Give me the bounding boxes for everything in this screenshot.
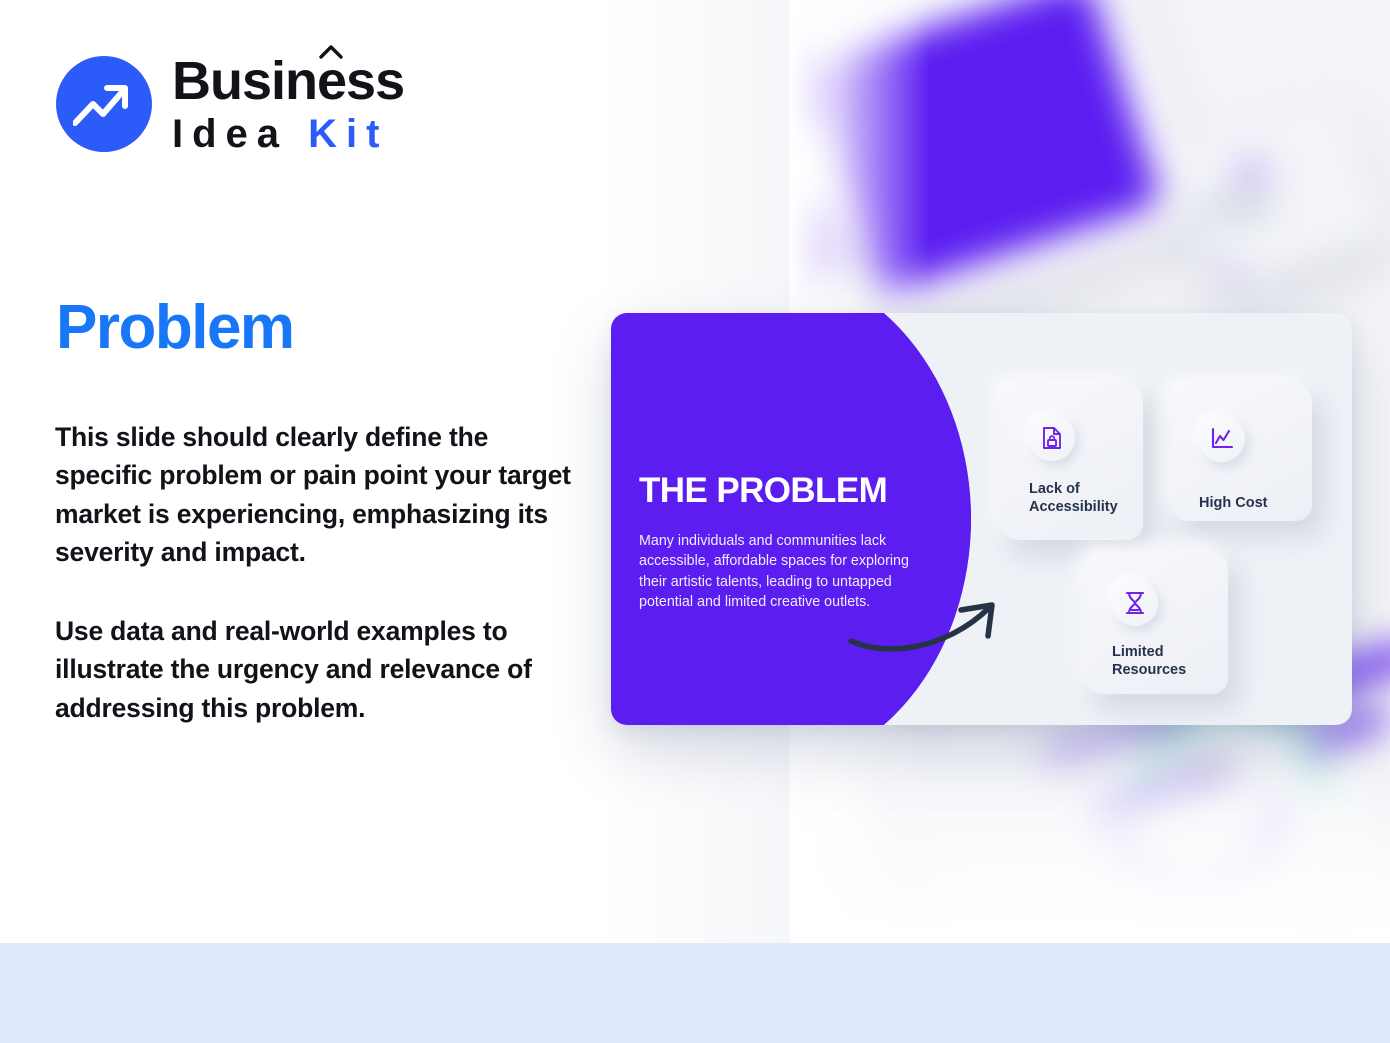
bg-mockup-card	[1171, 96, 1389, 294]
circumflex-accent-icon	[318, 44, 344, 60]
feature-card-label: Limited Resources	[1112, 643, 1222, 680]
document-lock-icon	[1029, 415, 1075, 461]
bg-decor-dot	[1222, 264, 1238, 280]
brand-name-line-1: Business	[172, 54, 404, 108]
feature-card-label: High Cost	[1199, 494, 1309, 512]
slide-text-block: THE PROBLEM Many individuals and communi…	[639, 473, 939, 612]
footer-accent-bar	[0, 943, 1390, 1043]
brand-name-kit: Kit	[308, 112, 388, 156]
feature-card-label: Lack of Accessibility	[1029, 480, 1139, 517]
trending-up-arrow-circle-icon	[56, 56, 152, 152]
brand-name-idea: Idea	[172, 112, 308, 156]
brand-name-line-2: Idea Kit	[172, 114, 404, 154]
hourglass-icon	[1112, 580, 1158, 626]
page-title: Problem	[56, 297, 294, 359]
slide-template-page: Business Idea Kit Problem This slide sho…	[0, 0, 1390, 1043]
bg-decor-dot	[1240, 162, 1264, 186]
feature-card-high-cost[interactable]: High Cost	[1172, 385, 1312, 521]
bg-decor-bar	[1200, 202, 1270, 216]
background-bottom-fade	[790, 713, 1390, 943]
brand-name-business: Business	[172, 51, 404, 111]
feature-card-limited-resources[interactable]: Limited Resources	[1086, 552, 1228, 694]
slide-title: THE PROBLEM	[639, 473, 939, 508]
body-paragraph-2: Use data and real-world examples to illu…	[55, 612, 575, 727]
line-chart-icon	[1199, 416, 1245, 462]
brand-wordmark: Business Idea Kit	[172, 54, 404, 154]
brand-logo[interactable]: Business Idea Kit	[56, 54, 404, 154]
curved-arrow-up-right-icon	[847, 596, 1012, 661]
body-paragraph-1: This slide should clearly define the spe…	[55, 418, 575, 572]
slide-preview-card[interactable]: THE PROBLEM Many individuals and communi…	[611, 313, 1352, 725]
body-copy: This slide should clearly define the spe…	[55, 418, 575, 727]
feature-card-lack-of-accessibility[interactable]: Lack of Accessibility	[1001, 384, 1143, 540]
